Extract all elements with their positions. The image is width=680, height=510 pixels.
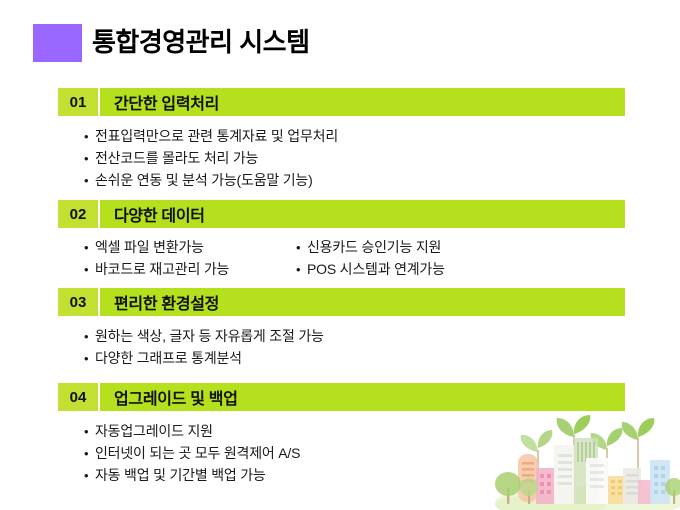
building-shape: [638, 480, 652, 504]
list-item: • 손쉬운 연동 및 분석 가능(도움말 기능): [84, 171, 338, 190]
bullet-dot-icon: •: [84, 328, 95, 346]
bullet-two-column-wrapper-02: • 엑셀 파일 변환가능 • 바코드로 재고관리 가능 • 신용카드 승인기능 …: [84, 238, 445, 279]
building-shape: [608, 476, 625, 504]
section-bar-04: 04 업그레이드 및 백업: [58, 383, 625, 411]
list-item: • POS 시스템과 연계가능: [296, 260, 445, 279]
section-number-02: 02: [70, 207, 87, 222]
section-number-cell-03: 03: [58, 288, 100, 316]
section-bar-03: 03 편리한 환경설정: [58, 288, 625, 316]
list-item-label: 엑셀 파일 변환가능: [95, 238, 204, 257]
bullet-dot-icon: •: [296, 261, 307, 279]
building-windows: [611, 480, 622, 495]
list-item-label: 바코드로 재고관리 가능: [95, 260, 229, 279]
tree-icon: [520, 478, 538, 504]
section-number-04: 04: [70, 390, 87, 405]
sprout-icon: [557, 415, 591, 480]
section-title-03: 편리한 환경설정: [100, 290, 219, 314]
list-item-label: POS 시스템과 연계가능: [307, 260, 445, 279]
building-shape: [554, 445, 576, 504]
list-item: • 자동업그레이드 지원: [84, 422, 300, 441]
list-item: • 엑셀 파일 변환가능: [84, 238, 296, 257]
section-bar-01: 01 간단한 입력처리: [58, 88, 625, 116]
sprout-icon: [591, 428, 623, 488]
list-item: • 전표입력만으로 관련 통계자료 및 업무처리: [84, 127, 338, 146]
bullet-column-left-01: • 전표입력만으로 관련 통계자료 및 업무처리 • 전산코드를 몰라도 처리 …: [84, 127, 338, 190]
building-shape: [586, 458, 608, 504]
list-item-label: 전산코드를 몰라도 처리 가능: [95, 149, 258, 168]
section-title-02: 다양한 데이터: [100, 202, 205, 226]
section-title-04: 업그레이드 및 백업: [100, 385, 238, 409]
bullet-column-left-03: • 원하는 색상, 글자 등 자유롭게 조절 가능 • 다양한 그래프로 통계분…: [84, 327, 324, 368]
bullet-dot-icon: •: [84, 172, 95, 190]
tree-icon: [665, 478, 680, 504]
list-item-label: 전표입력만으로 관련 통계자료 및 업무처리: [95, 127, 338, 146]
list-item-label: 신용카드 승인기능 지원: [307, 238, 441, 257]
section-number-cell-04: 04: [58, 383, 100, 411]
building-windows: [590, 464, 604, 488]
section-bullets-02: • 엑셀 파일 변환가능 • 바코드로 재고관리 가능 • 신용카드 승인기능 …: [84, 238, 445, 279]
sprout-icon: [622, 418, 655, 482]
title-accent-block: [33, 24, 82, 62]
section-number-03: 03: [70, 295, 87, 310]
bullet-dot-icon: •: [84, 239, 95, 257]
bullet-dot-icon: •: [84, 423, 95, 441]
section-bar-02: 02 다양한 데이터: [58, 200, 625, 228]
list-item-label: 자동 백업 및 기간별 백업 가능: [95, 466, 266, 485]
bullet-dot-icon: •: [84, 128, 95, 146]
bullet-dot-icon: •: [84, 261, 95, 279]
building-windows: [626, 474, 638, 495]
list-item-label: 다양한 그래프로 통계분석: [95, 349, 242, 368]
ground-shape: [495, 486, 680, 510]
list-item-label: 자동업그레이드 지원: [95, 422, 213, 441]
bullet-dot-icon: •: [84, 445, 95, 463]
bullet-column-left-04: • 자동업그레이드 지원 • 인터넷이 되는 곳 모두 원격제어 A/S • 자…: [84, 422, 300, 485]
bullet-dot-icon: •: [84, 150, 95, 168]
list-item-label: 손쉬운 연동 및 분석 가능(도움말 기능): [95, 171, 313, 190]
section-number-01: 01: [70, 95, 87, 110]
building-windows: [540, 474, 551, 494]
bullet-column-left-02: • 엑셀 파일 변환가능 • 바코드로 재고관리 가능: [84, 238, 296, 279]
building-shape: [650, 460, 670, 504]
list-item: • 신용카드 승인기능 지원: [296, 238, 445, 257]
tree-icon: [495, 472, 521, 504]
section-bullets-01: • 전표입력만으로 관련 통계자료 및 업무처리 • 전산코드를 몰라도 처리 …: [84, 127, 338, 190]
building-windows: [522, 462, 534, 483]
section-number-cell-02: 02: [58, 200, 100, 228]
list-item: • 전산코드를 몰라도 처리 가능: [84, 149, 338, 168]
building-windows: [577, 442, 595, 462]
building-shape: [574, 438, 598, 504]
list-item: • 원하는 색상, 글자 등 자유롭게 조절 가능: [84, 327, 324, 346]
building-shape: [518, 454, 538, 502]
list-item: • 바코드로 재고관리 가능: [84, 260, 296, 279]
section-bullets-03: • 원하는 색상, 글자 등 자유롭게 조절 가능 • 다양한 그래프로 통계분…: [84, 327, 324, 368]
section-number-cell-01: 01: [58, 88, 100, 116]
list-item: • 인터넷이 되는 곳 모두 원격제어 A/S: [84, 444, 300, 463]
building-shape: [623, 468, 641, 504]
sprout-icon: [521, 430, 553, 485]
building-shape: [536, 468, 557, 504]
list-item-label: 인터넷이 되는 곳 모두 원격제어 A/S: [95, 444, 300, 463]
bullet-dot-icon: •: [296, 239, 307, 257]
section-title-01: 간단한 입력처리: [100, 90, 219, 114]
building-windows: [558, 454, 572, 485]
building-windows: [654, 466, 665, 494]
section-bullets-04: • 자동업그레이드 지원 • 인터넷이 되는 곳 모두 원격제어 A/S • 자…: [84, 422, 300, 485]
list-item: • 자동 백업 및 기간별 백업 가능: [84, 466, 300, 485]
list-item-label: 원하는 색상, 글자 등 자유롭게 조절 가능: [95, 327, 324, 346]
bullet-dot-icon: •: [84, 350, 95, 368]
ground-shape: [495, 494, 605, 510]
slide-canvas: 통합경영관리 시스템 01 간단한 입력처리 • 전표입력만으로 관련 통계자료…: [0, 0, 680, 510]
bullet-dot-icon: •: [84, 467, 95, 485]
bullet-column-right-02: • 신용카드 승인기능 지원 • POS 시스템과 연계가능: [296, 238, 445, 279]
page-title: 통합경영관리 시스템: [92, 22, 310, 59]
list-item: • 다양한 그래프로 통계분석: [84, 349, 324, 368]
